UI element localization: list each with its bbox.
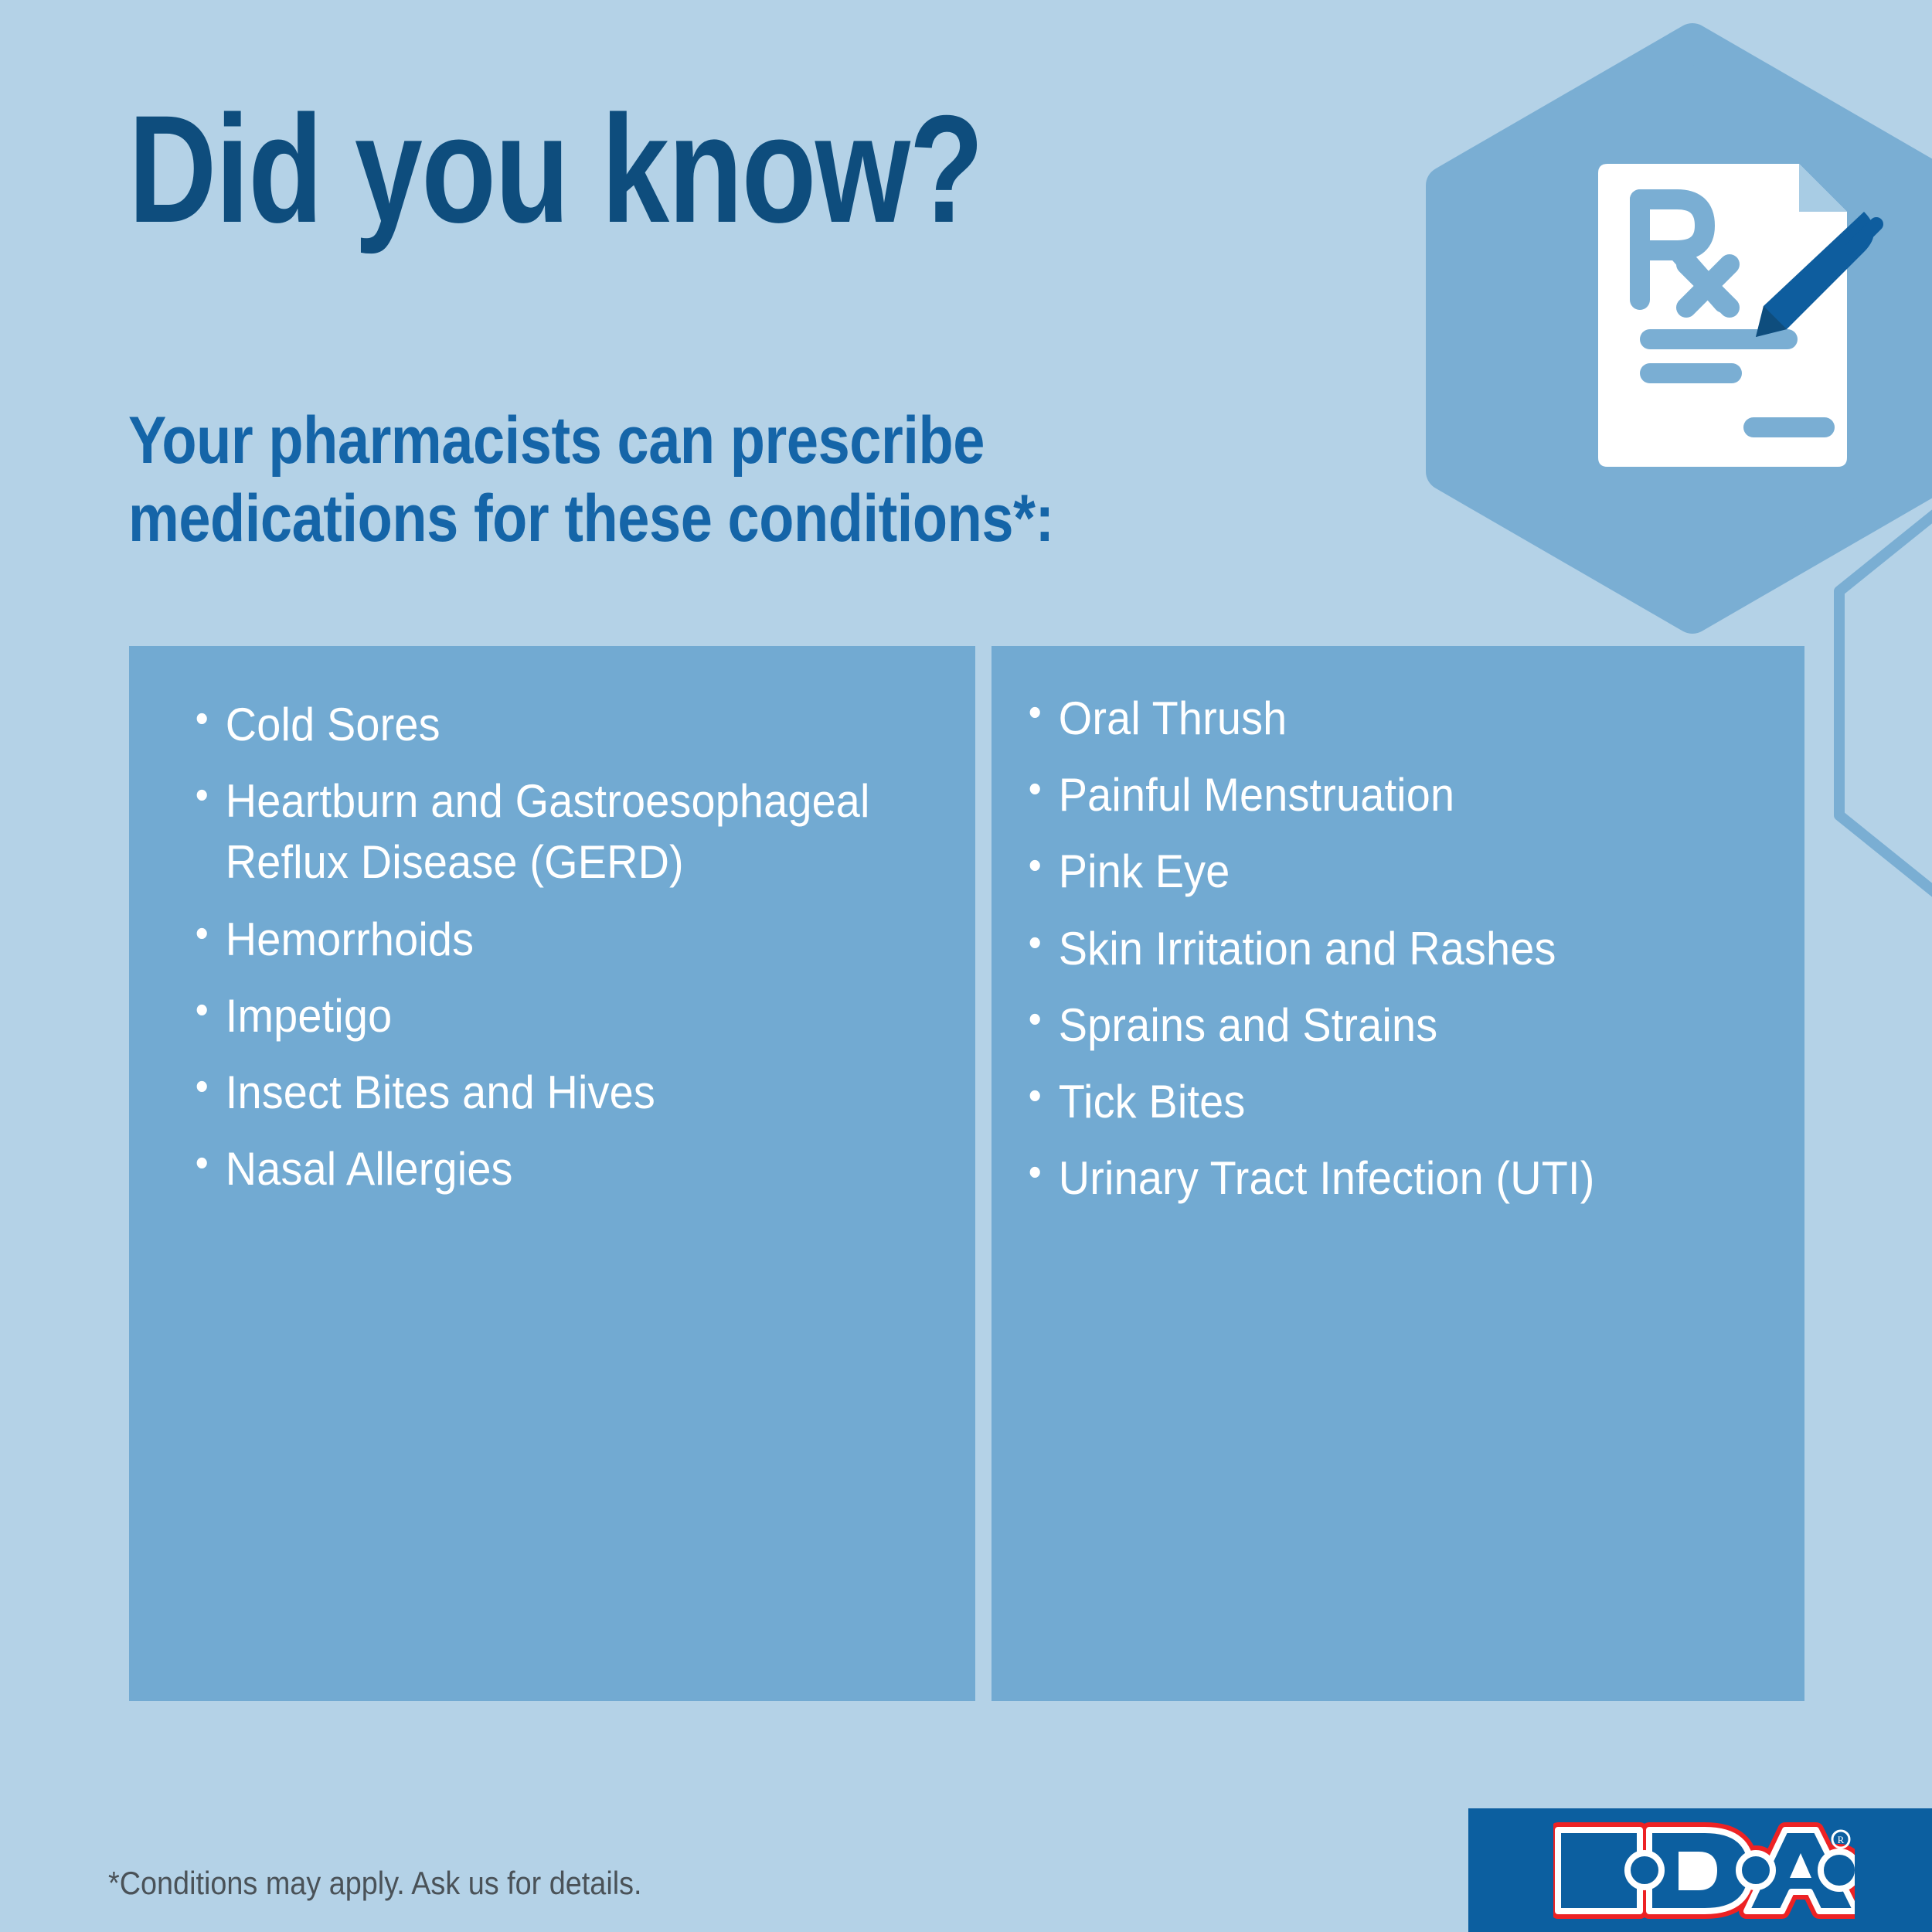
poster-canvas: Did you know? Your pharmacists can presc… (0, 0, 1932, 1932)
hexagon-outline-icon (1839, 479, 1932, 927)
list-item: Sprains and Strains (1026, 995, 1721, 1056)
page-subtitle: Your pharmacists can prescribe medicatio… (128, 402, 1054, 559)
registered-trademark-icon: R (1832, 1831, 1849, 1848)
page-title: Did you know? (128, 93, 983, 246)
list-item: Hemorrhoids (192, 909, 892, 970)
prescription-document-icon (1592, 162, 1893, 471)
document-signature-line (1743, 417, 1835, 437)
list-item: Heartburn and Gastroesophageal Reflux Di… (192, 770, 892, 893)
logo-d-counter (1679, 1852, 1717, 1890)
list-item: Nasal Allergies (192, 1138, 892, 1199)
footnote-text: *Conditions may apply. Ask us for detail… (108, 1865, 642, 1902)
svg-text:R: R (1838, 1834, 1845, 1845)
list-item: Insect Bites and Hives (192, 1062, 892, 1123)
list-item: Oral Thrush (1026, 688, 1721, 749)
document-line-2 (1640, 363, 1742, 383)
conditions-panel-left: Cold Sores Heartburn and Gastroesophagea… (129, 646, 975, 1701)
list-item: Skin Irritation and Rashes (1026, 918, 1721, 979)
conditions-panel-right: Oral Thrush Painful Menstruation Pink Ey… (992, 646, 1804, 1701)
document-fold (1799, 164, 1847, 212)
list-item: Painful Menstruation (1026, 764, 1721, 825)
ida-logo-block: R (1468, 1808, 1932, 1932)
conditions-list-right: Oral Thrush Painful Menstruation Pink Ey… (992, 646, 1804, 1209)
list-item: Cold Sores (192, 694, 892, 755)
list-item: Tick Bites (1026, 1071, 1721, 1132)
conditions-list-left: Cold Sores Heartburn and Gastroesophagea… (129, 646, 975, 1199)
list-item: Pink Eye (1026, 841, 1721, 902)
list-item: Urinary Tract Infection (UTI) (1026, 1148, 1721, 1209)
ida-logo-icon: R (1553, 1822, 1855, 1919)
list-item: Impetigo (192, 985, 892, 1046)
